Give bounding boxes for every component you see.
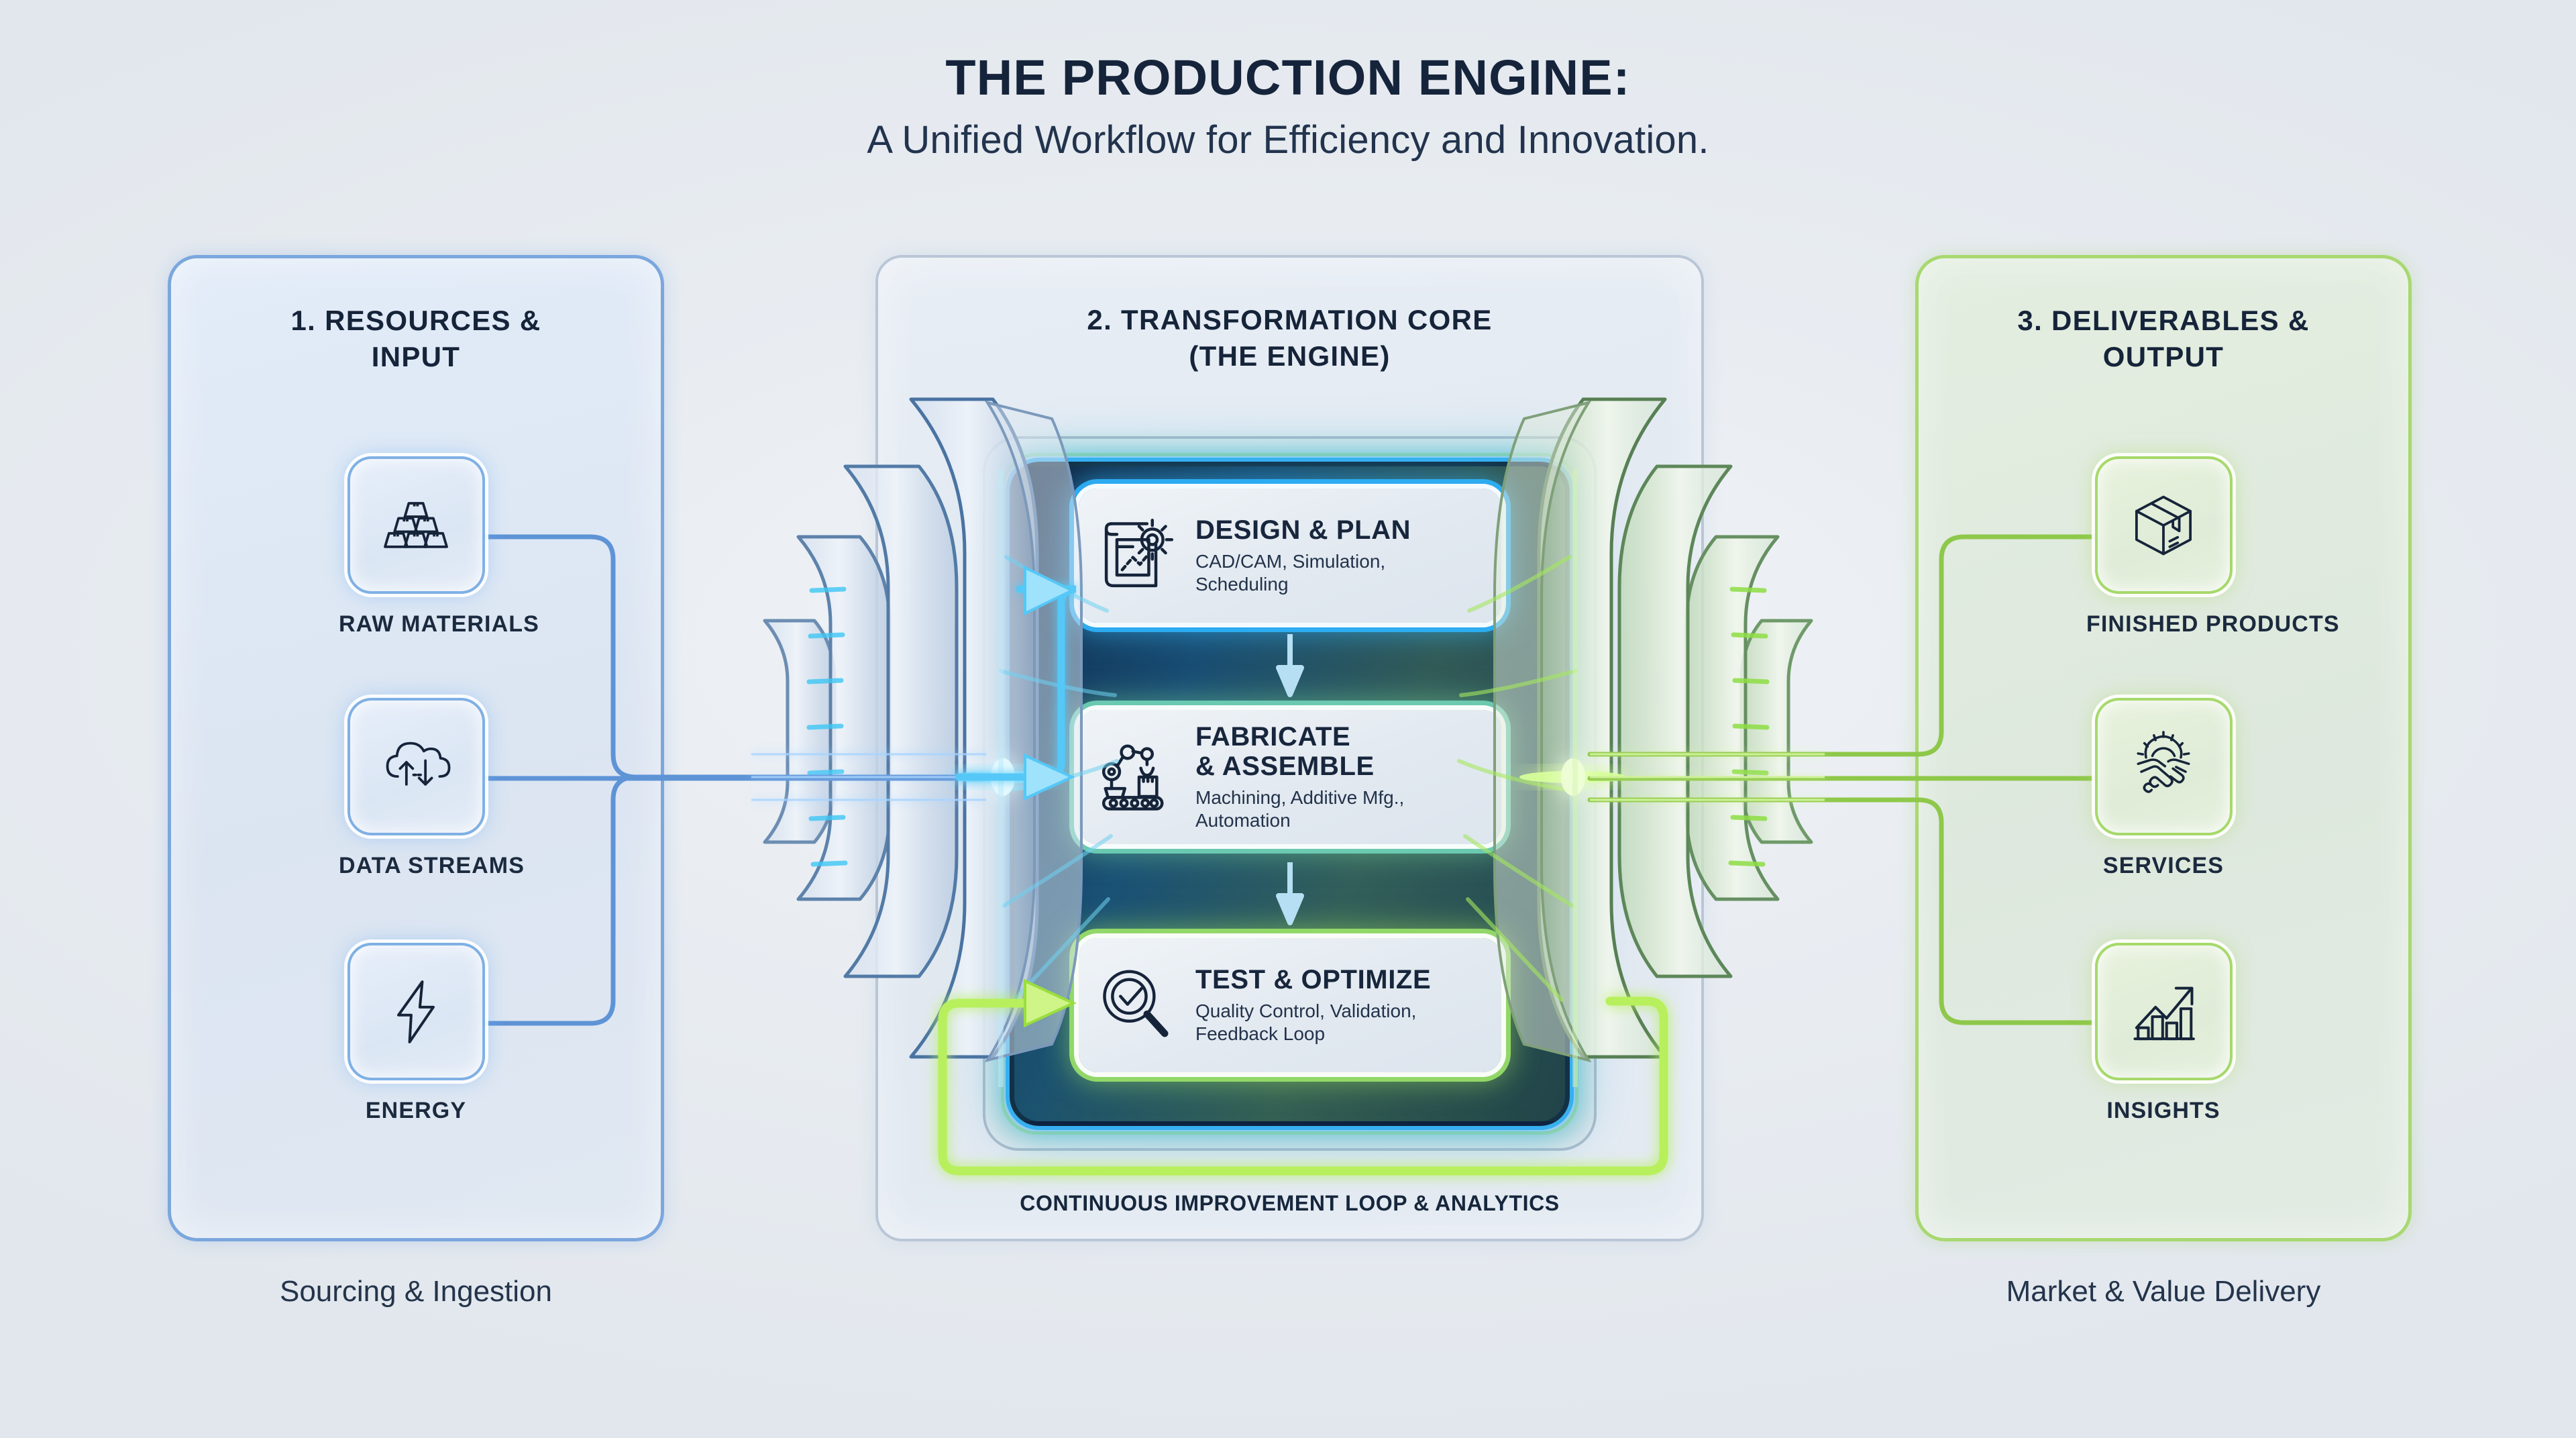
process-card-design-plan[interactable]: DESIGN & PLAN CAD/CAM, Simulation, Sched… bbox=[1079, 489, 1501, 623]
node-label: DATA STREAMS bbox=[339, 853, 493, 879]
process-card-title: FABRICATE & ASSEMBLE bbox=[1195, 722, 1375, 781]
node-raw-materials[interactable]: RAW MATERIALS bbox=[339, 456, 493, 637]
node-label: ENERGY bbox=[339, 1098, 493, 1124]
blueprint-gear-icon bbox=[1092, 511, 1181, 600]
process-card-title: DESIGN & PLAN bbox=[1195, 515, 1411, 545]
node-finished-products[interactable]: FINISHED PRODUCTS bbox=[2086, 456, 2241, 637]
node-data-streams[interactable]: DATA STREAMS bbox=[339, 698, 493, 879]
panel-input-heading: 1. RESOURCES & INPUT bbox=[171, 303, 661, 375]
node-label: INSIGHTS bbox=[2086, 1098, 2241, 1124]
page-subtitle: A Unified Workflow for Efficiency and In… bbox=[0, 117, 2576, 162]
node-label: RAW MATERIALS bbox=[339, 611, 493, 637]
process-card-subtitle: Quality Control, Validation, Feedback Lo… bbox=[1195, 1000, 1489, 1045]
panel-core-heading: 2. TRANSFORMATION CORE (THE ENGINE) bbox=[878, 302, 1701, 374]
node-tile bbox=[2095, 456, 2233, 594]
robot-arm-conveyor-icon bbox=[1092, 733, 1181, 821]
panel-output-heading: 3. DELIVERABLES & OUTPUT bbox=[1919, 303, 2408, 375]
node-services[interactable]: SERVICES bbox=[2086, 698, 2241, 879]
node-energy[interactable]: ENERGY bbox=[339, 943, 493, 1124]
node-label: SERVICES bbox=[2086, 853, 2241, 879]
node-insights[interactable]: INSIGHTS bbox=[2086, 943, 2241, 1124]
process-card-fabricate-assemble[interactable]: FABRICATE & ASSEMBLE Machining, Additive… bbox=[1079, 710, 1501, 844]
process-card-title: TEST & OPTIMIZE bbox=[1195, 965, 1431, 994]
process-card-subtitle: Machining, Additive Mfg., Automation bbox=[1195, 786, 1489, 832]
lightning-bolt-icon bbox=[376, 972, 455, 1051]
page-header: THE PRODUCTION ENGINE: A Unified Workflo… bbox=[0, 52, 2576, 162]
loop-label: CONTINUOUS IMPROVEMENT LOOP & ANALYTICS bbox=[875, 1191, 1704, 1216]
node-label: FINISHED PRODUCTS bbox=[2086, 611, 2241, 637]
caption-sourcing-ingestion: Sourcing & Ingestion bbox=[168, 1275, 664, 1308]
node-tile bbox=[347, 456, 485, 594]
package-box-icon bbox=[2124, 486, 2203, 565]
node-tile bbox=[347, 943, 485, 1080]
node-tile bbox=[2095, 943, 2233, 1080]
caption-market-value-delivery: Market & Value Delivery bbox=[1915, 1275, 2412, 1308]
ingot-stack-icon bbox=[376, 486, 455, 565]
node-tile bbox=[2095, 698, 2233, 835]
down-arrow-icon bbox=[1276, 862, 1304, 927]
bar-chart-arrow-icon bbox=[2124, 972, 2203, 1051]
process-card-subtitle: CAD/CAM, Simulation, Scheduling bbox=[1195, 550, 1489, 596]
cloud-sync-icon bbox=[376, 727, 455, 807]
node-tile bbox=[347, 698, 485, 835]
process-card-test-optimize[interactable]: TEST & OPTIMIZE Quality Control, Validat… bbox=[1079, 938, 1501, 1072]
down-arrow-icon bbox=[1276, 634, 1304, 699]
magnifier-check-icon bbox=[1092, 961, 1181, 1049]
handshake-gear-icon bbox=[2124, 727, 2203, 807]
page-title: THE PRODUCTION ENGINE: bbox=[0, 52, 2576, 104]
